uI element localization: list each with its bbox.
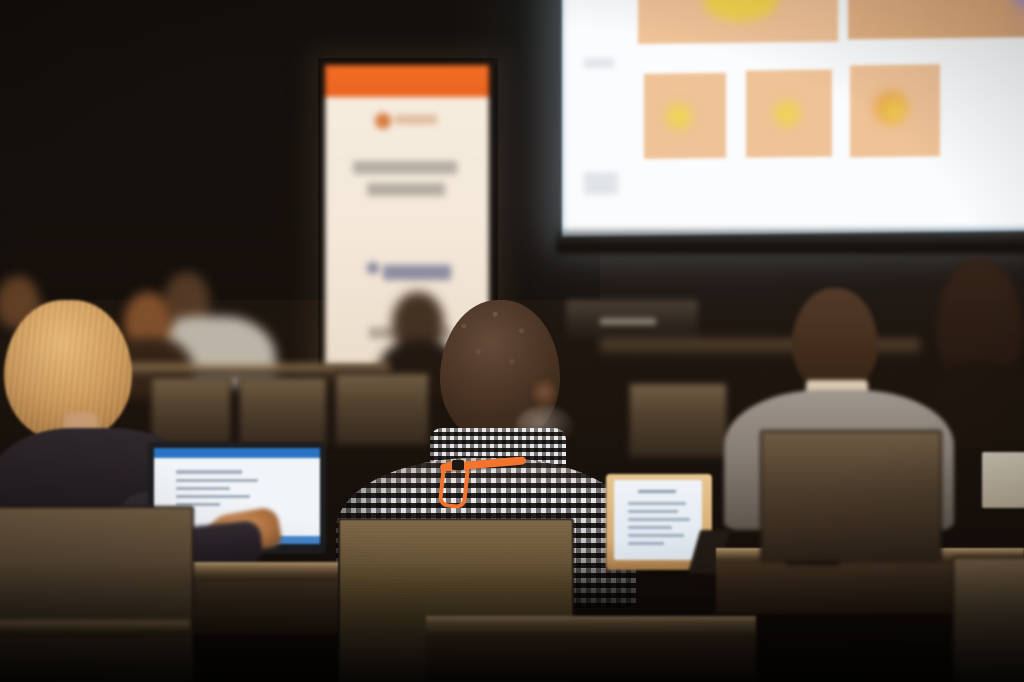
slide-panel-top-2 [848,0,1024,39]
banner-headline-line-2 [367,183,445,196]
doc-line [176,479,258,482]
banner-headline-line-1 [353,161,457,174]
banner-logo-text [395,115,437,124]
banner-top-band [325,65,489,97]
doc-line [176,487,230,490]
projection-screen [562,0,1024,237]
chair-weave [762,432,940,560]
doc-title-line [638,490,676,493]
doc-line [628,542,664,545]
doc-line [628,510,678,513]
doc-line [628,502,686,505]
doc-line [176,495,250,498]
screen-bottom-shadow [556,228,1024,254]
head [792,288,878,392]
chair-weave [630,384,726,456]
slide-surface [562,0,1024,237]
chair-far-right[interactable] [952,556,1024,682]
banner-subhead-line [383,265,451,280]
chair-back-right [628,382,728,458]
laptop-far-right-screen [982,452,1024,508]
conference-session-photo [0,0,1024,682]
doc-line [628,534,684,537]
laptop-left-titlebar [154,448,320,458]
tablet-center-right-screen[interactable] [614,480,702,560]
chair-weave [954,558,1024,682]
chair-front-right[interactable] [760,430,942,562]
desk-edge-left-foreground [0,620,190,636]
ear [532,376,556,408]
banner-bullet-icon [367,262,379,274]
doc-line [176,470,242,474]
chair-weave [240,378,326,446]
doc-line [628,526,672,529]
banner-logo-icon [375,113,391,129]
slide-caption-block-left [584,58,614,67]
desk-front-foreground [426,634,756,682]
slide-caption-block-left-2 [584,172,618,194]
chair-weave [0,508,192,682]
lanyard-clip-icon [452,460,464,470]
chair-front-left[interactable] [0,506,194,682]
stage-curtain [0,0,600,300]
doc-line [628,518,690,521]
chair-back-center [238,376,328,448]
